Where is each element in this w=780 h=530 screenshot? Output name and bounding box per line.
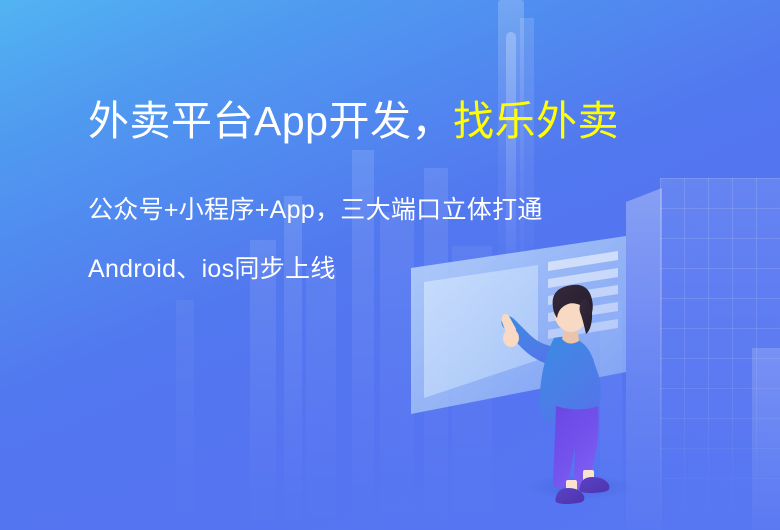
figure-shadow <box>525 474 635 500</box>
building-silhouette <box>306 268 336 530</box>
subheadline-line-1: 公众号+小程序+App，三大端口立体打通 <box>88 196 543 224</box>
figure-pants <box>553 406 599 490</box>
person-figure <box>502 285 610 504</box>
building-silhouette <box>250 240 276 530</box>
building-silhouette <box>176 300 194 530</box>
figure-hand <box>502 314 516 336</box>
headline-accent-text: 找乐外卖 <box>453 98 619 144</box>
figure-head <box>554 292 588 332</box>
figure-sock-left <box>566 480 577 492</box>
figure-fist <box>503 329 519 347</box>
figure-shoe-left <box>555 488 584 504</box>
building-front-face <box>660 178 780 530</box>
figure-shoe-right <box>579 477 609 493</box>
window-grid-pattern <box>660 178 780 530</box>
figure-torso <box>540 337 599 425</box>
promo-banner: 外卖平台App开发，找乐外卖 公众号+小程序+App，三大端口立体打通 Andr… <box>0 0 780 530</box>
building-silhouette <box>600 300 622 530</box>
banner-subheadline: 公众号+小程序+App，三大端口立体打通 Android、ios同步上线 <box>88 198 619 282</box>
figure-back-arm <box>566 355 601 431</box>
building-silhouette <box>452 246 492 530</box>
banner-copy: 外卖平台App开发，找乐外卖 公众号+小程序+App，三大端口立体打通 Andr… <box>88 96 619 282</box>
subheadline-line-2: Android、ios同步上线 <box>88 257 619 282</box>
figure-neck <box>562 324 579 344</box>
building-silhouette <box>752 348 780 530</box>
banner-headline: 外卖平台App开发，找乐外卖 <box>88 96 619 146</box>
figure-sock-right <box>583 470 594 482</box>
figure-hair <box>553 285 593 318</box>
figure-hair-side <box>580 298 593 334</box>
figure-pointing-arm <box>502 316 559 366</box>
building-side-face <box>626 188 662 530</box>
headline-primary-text: 外卖平台App开发， <box>88 98 453 144</box>
